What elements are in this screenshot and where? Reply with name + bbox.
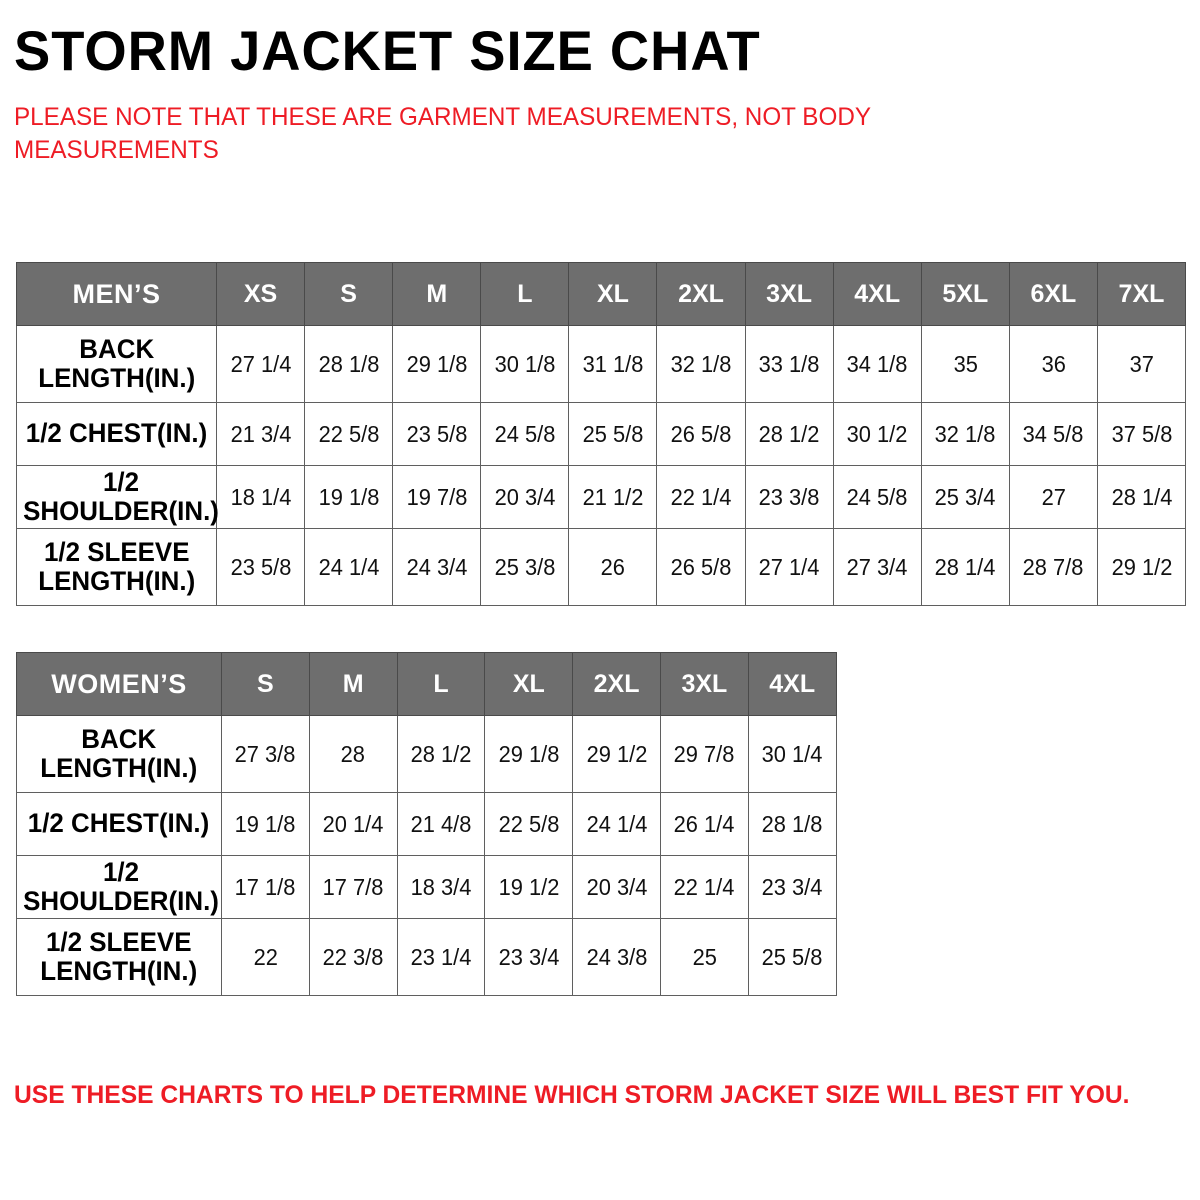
measurement-cell: 33 1/8 (745, 326, 833, 403)
measurement-value: 19 1/2 (498, 874, 559, 901)
measurement-value: 17 1/8 (235, 874, 296, 901)
measurement-value: 29 1/8 (406, 351, 467, 378)
measurement-value: 29 1/2 (1111, 554, 1172, 581)
measurement-value: 26 1/4 (674, 811, 735, 838)
size-chart-page: STORM JACKET SIZE CHAT PLEASE NOTE THAT … (0, 0, 1200, 1200)
measurement-cell: 34 1/8 (833, 326, 921, 403)
measurement-value: 27 1/4 (230, 351, 291, 378)
row-label-text: BACK LENGTH(IN.) (41, 725, 198, 783)
womens-size-table: WOMEN’SSMLXL2XL3XL4XL BACK LENGTH(IN.)27… (16, 652, 837, 996)
row-label-text: 1/2 SHOULDER(IN.) (23, 858, 219, 916)
womens-table-header: WOMEN’SSMLXL2XL3XL4XL (17, 653, 837, 716)
table-row: 1/2 SLEEVE LENGTH(IN.)2222 3/823 1/423 3… (17, 919, 837, 996)
measurement-cell: 25 5/8 (569, 403, 657, 466)
measurement-cell: 29 1/8 (393, 326, 481, 403)
measurement-cell: 28 1/2 (745, 403, 833, 466)
measurement-value: 32 1/8 (935, 421, 996, 448)
womens-column-header-xl: XL (485, 653, 573, 716)
measurement-value: 23 3/4 (498, 944, 559, 971)
mens-column-header-7xl: 7XL (1097, 263, 1185, 326)
measurement-value: 22 5/8 (498, 811, 559, 838)
measurement-cell: 26 1/4 (660, 793, 748, 856)
womens-row-label: BACK LENGTH(IN.) (17, 716, 222, 793)
measurement-value: 26 5/8 (671, 554, 732, 581)
mens-row-label: 1/2 SHOULDER(IN.) (17, 466, 217, 529)
measurement-cell: 25 5/8 (748, 919, 836, 996)
row-label-text: 1/2 SHOULDER(IN.) (23, 468, 219, 526)
measurement-value: 24 5/8 (494, 421, 555, 448)
measurement-value: 17 7/8 (323, 874, 384, 901)
measurement-value: 28 1/2 (411, 741, 472, 768)
womens-corner-header: WOMEN’S (17, 653, 222, 716)
measurement-cell: 20 3/4 (573, 856, 661, 919)
measurement-value: 25 5/8 (762, 944, 823, 971)
measurement-value: 27 3/8 (235, 741, 296, 768)
measurement-value: 29 7/8 (674, 741, 735, 768)
measurement-value: 25 (692, 944, 716, 971)
measurement-cell: 37 5/8 (1097, 403, 1185, 466)
measurement-value: 26 5/8 (671, 421, 732, 448)
measurement-cell: 26 5/8 (657, 403, 745, 466)
measurement-cell: 23 1/4 (397, 919, 485, 996)
measurement-cell: 30 1/8 (481, 326, 569, 403)
table-row: BACK LENGTH(IN.)27 3/82828 1/229 1/829 1… (17, 716, 837, 793)
measurement-cell: 32 1/8 (921, 403, 1009, 466)
mens-table-body: BACK LENGTH(IN.)27 1/428 1/829 1/830 1/8… (17, 326, 1186, 606)
measurement-value: 24 1/4 (586, 811, 647, 838)
measurement-cell: 20 1/4 (309, 793, 397, 856)
measurement-value: 23 3/8 (759, 484, 820, 511)
womens-row-label: 1/2 CHEST(IN.) (17, 793, 222, 856)
measurement-cell: 25 3/8 (481, 529, 569, 606)
womens-column-header-3xl: 3XL (660, 653, 748, 716)
mens-size-table-container: MEN’SXSSMLXL2XL3XL4XL5XL6XL7XL BACK LENG… (16, 262, 1185, 606)
measurement-value: 30 1/2 (847, 421, 908, 448)
measurement-cell: 27 3/4 (833, 529, 921, 606)
measurement-cell: 23 3/4 (748, 856, 836, 919)
measurement-cell: 27 1/4 (217, 326, 305, 403)
measurement-value: 18 3/4 (411, 874, 472, 901)
measurement-value: 34 5/8 (1023, 421, 1084, 448)
measurement-cell: 20 3/4 (481, 466, 569, 529)
measurement-value: 28 1/8 (762, 811, 823, 838)
measurement-value: 22 (253, 944, 277, 971)
measurement-value: 22 1/4 (671, 484, 732, 511)
measurement-cell: 18 3/4 (397, 856, 485, 919)
measurement-cell: 28 1/2 (397, 716, 485, 793)
mens-column-header-4xl: 4XL (833, 263, 921, 326)
measurement-value: 23 1/4 (411, 944, 472, 971)
mens-corner-header: MEN’S (17, 263, 217, 326)
measurement-value: 22 3/8 (323, 944, 384, 971)
measurement-cell: 30 1/2 (833, 403, 921, 466)
measurement-value: 25 3/4 (935, 484, 996, 511)
measurement-cell: 29 1/8 (485, 716, 573, 793)
measurement-cell: 24 1/4 (573, 793, 661, 856)
mens-row-label: BACK LENGTH(IN.) (17, 326, 217, 403)
measurement-cell: 24 3/4 (393, 529, 481, 606)
measurement-value: 20 3/4 (494, 484, 555, 511)
measurement-value: 21 1/2 (583, 484, 644, 511)
measurement-cell: 25 (660, 919, 748, 996)
measurement-value: 30 1/8 (494, 351, 555, 378)
measurement-cell: 19 1/2 (485, 856, 573, 919)
measurement-cell: 24 3/8 (573, 919, 661, 996)
measurement-cell: 24 5/8 (833, 466, 921, 529)
measurement-value: 28 1/2 (759, 421, 820, 448)
measurement-cell: 28 1/8 (305, 326, 393, 403)
measurement-value: 23 5/8 (230, 554, 291, 581)
mens-column-header-3xl: 3XL (745, 263, 833, 326)
measurement-value: 19 7/8 (406, 484, 467, 511)
measurement-cell: 22 5/8 (485, 793, 573, 856)
measurement-cell: 22 (222, 919, 310, 996)
row-label-text: 1/2 SLEEVE LENGTH(IN.) (41, 928, 198, 986)
mens-column-header-m: M (393, 263, 481, 326)
measurement-cell: 22 3/8 (309, 919, 397, 996)
row-label-text: 1/2 CHEST(IN.) (26, 419, 207, 448)
measurement-value: 28 1/8 (318, 351, 379, 378)
measurement-value: 27 3/4 (847, 554, 908, 581)
measurement-value: 21 3/4 (230, 421, 291, 448)
row-label-text: BACK LENGTH(IN.) (38, 335, 195, 393)
measurement-value: 22 1/4 (674, 874, 735, 901)
womens-header-row: WOMEN’SSMLXL2XL3XL4XL (17, 653, 837, 716)
mens-column-header-l: L (481, 263, 569, 326)
womens-column-header-l: L (397, 653, 485, 716)
measurement-cell: 23 3/4 (485, 919, 573, 996)
womens-column-header-m: M (309, 653, 397, 716)
measurement-value: 19 1/8 (318, 484, 379, 511)
measurement-cell: 29 7/8 (660, 716, 748, 793)
measurement-cell: 21 4/8 (397, 793, 485, 856)
womens-column-header-4xl: 4XL (748, 653, 836, 716)
measurement-cell: 23 3/8 (745, 466, 833, 529)
mens-row-label: 1/2 CHEST(IN.) (17, 403, 217, 466)
table-row: 1/2 SHOULDER(IN.)18 1/419 1/819 7/820 3/… (17, 466, 1186, 529)
table-row: 1/2 SHOULDER(IN.)17 1/817 7/818 3/419 1/… (17, 856, 837, 919)
mens-row-label: 1/2 SLEEVE LENGTH(IN.) (17, 529, 217, 606)
table-row: 1/2 CHEST(IN.)21 3/422 5/823 5/824 5/825… (17, 403, 1186, 466)
measurement-cell: 36 (1009, 326, 1097, 403)
measurement-cell: 29 1/2 (1097, 529, 1185, 606)
mens-column-header-xl: XL (569, 263, 657, 326)
measurement-cell: 24 5/8 (481, 403, 569, 466)
measurement-value: 28 (341, 741, 365, 768)
measurement-value: 34 1/8 (847, 351, 908, 378)
womens-column-header-s: S (222, 653, 310, 716)
measurement-value: 28 7/8 (1023, 554, 1084, 581)
measurement-cell: 22 5/8 (305, 403, 393, 466)
measurement-cell: 35 (921, 326, 1009, 403)
measurement-cell: 22 1/4 (660, 856, 748, 919)
measurement-cell: 23 5/8 (217, 529, 305, 606)
measurement-value: 25 5/8 (583, 421, 644, 448)
mens-size-table: MEN’SXSSMLXL2XL3XL4XL5XL6XL7XL BACK LENG… (16, 262, 1186, 606)
measurement-cell: 25 3/4 (921, 466, 1009, 529)
measurement-value: 27 (1041, 484, 1065, 511)
measurement-cell: 28 1/4 (921, 529, 1009, 606)
measurement-cell: 29 1/2 (573, 716, 661, 793)
measurement-cell: 19 7/8 (393, 466, 481, 529)
measurement-cell: 28 1/4 (1097, 466, 1185, 529)
measurement-cell: 28 (309, 716, 397, 793)
mens-column-header-5xl: 5XL (921, 263, 1009, 326)
measurement-value: 23 3/4 (762, 874, 823, 901)
measurement-cell: 17 7/8 (309, 856, 397, 919)
mens-header-row: MEN’SXSSMLXL2XL3XL4XL5XL6XL7XL (17, 263, 1186, 326)
measurement-cell: 26 5/8 (657, 529, 745, 606)
page-title: STORM JACKET SIZE CHAT (14, 0, 1151, 81)
measurement-cell: 23 5/8 (393, 403, 481, 466)
womens-row-label: 1/2 SLEEVE LENGTH(IN.) (17, 919, 222, 996)
measurement-value: 24 5/8 (847, 484, 908, 511)
measurement-cell: 32 1/8 (657, 326, 745, 403)
womens-row-label: 1/2 SHOULDER(IN.) (17, 856, 222, 919)
mens-table-header: MEN’SXSSMLXL2XL3XL4XL5XL6XL7XL (17, 263, 1186, 326)
womens-size-table-container: WOMEN’SSMLXL2XL3XL4XL BACK LENGTH(IN.)27… (16, 652, 836, 996)
measurement-value: 35 (953, 351, 977, 378)
measurement-cell: 17 1/8 (222, 856, 310, 919)
measurement-cell: 18 1/4 (217, 466, 305, 529)
mens-column-header-6xl: 6XL (1009, 263, 1097, 326)
measurement-cell: 21 3/4 (217, 403, 305, 466)
measurement-value: 30 1/4 (762, 741, 823, 768)
measurement-cell: 27 (1009, 466, 1097, 529)
measurement-value: 18 1/4 (230, 484, 291, 511)
measurement-value: 19 1/8 (235, 811, 296, 838)
table-row: 1/2 CHEST(IN.)19 1/820 1/421 4/822 5/824… (17, 793, 837, 856)
measurement-cell: 24 1/4 (305, 529, 393, 606)
measurement-value: 26 (601, 554, 625, 581)
measurement-value: 37 (1129, 351, 1153, 378)
mens-column-header-s: S (305, 263, 393, 326)
measurement-cell: 28 1/8 (748, 793, 836, 856)
measurement-value: 23 5/8 (406, 421, 467, 448)
measurement-value: 31 1/8 (583, 351, 644, 378)
measurement-value: 33 1/8 (759, 351, 820, 378)
measurement-cell: 27 1/4 (745, 529, 833, 606)
measurement-value: 21 4/8 (411, 811, 472, 838)
measurement-cell: 22 1/4 (657, 466, 745, 529)
measurement-cell: 30 1/4 (748, 716, 836, 793)
table-row: 1/2 SLEEVE LENGTH(IN.)23 5/824 1/424 3/4… (17, 529, 1186, 606)
measurement-cell: 31 1/8 (569, 326, 657, 403)
measurement-value: 37 5/8 (1111, 421, 1172, 448)
measurement-cell: 28 7/8 (1009, 529, 1097, 606)
row-label-text: 1/2 SLEEVE LENGTH(IN.) (38, 538, 195, 596)
measurement-value: 29 1/2 (586, 741, 647, 768)
row-label-text: 1/2 CHEST(IN.) (28, 809, 209, 838)
measurement-cell: 26 (569, 529, 657, 606)
measurement-value: 27 1/4 (759, 554, 820, 581)
measurement-cell: 34 5/8 (1009, 403, 1097, 466)
womens-table-body: BACK LENGTH(IN.)27 3/82828 1/229 1/829 1… (17, 716, 837, 996)
fit-guidance-note: USE THESE CHARTS TO HELP DETERMINE WHICH… (14, 1080, 1130, 1110)
measurement-value: 24 1/4 (318, 554, 379, 581)
measurement-value: 20 1/4 (323, 811, 384, 838)
measurement-value: 22 5/8 (318, 421, 379, 448)
measurement-cell: 19 1/8 (222, 793, 310, 856)
measurement-value: 24 3/8 (586, 944, 647, 971)
measurement-cell: 37 (1097, 326, 1185, 403)
measurement-value: 32 1/8 (671, 351, 732, 378)
measurement-cell: 21 1/2 (569, 466, 657, 529)
measurement-value: 36 (1041, 351, 1065, 378)
measurement-value: 28 1/4 (1111, 484, 1172, 511)
measurement-cell: 19 1/8 (305, 466, 393, 529)
mens-column-header-2xl: 2XL (657, 263, 745, 326)
measurement-value: 29 1/8 (498, 741, 559, 768)
table-row: BACK LENGTH(IN.)27 1/428 1/829 1/830 1/8… (17, 326, 1186, 403)
mens-column-header-xs: XS (217, 263, 305, 326)
womens-column-header-2xl: 2XL (573, 653, 661, 716)
measurement-value: 25 3/8 (494, 554, 555, 581)
measurement-value: 28 1/4 (935, 554, 996, 581)
measurement-value: 20 3/4 (586, 874, 647, 901)
measurement-cell: 27 3/8 (222, 716, 310, 793)
garment-measurement-note: PLEASE NOTE THAT THESE ARE GARMENT MEASU… (14, 81, 945, 167)
measurement-value: 24 3/4 (406, 554, 467, 581)
